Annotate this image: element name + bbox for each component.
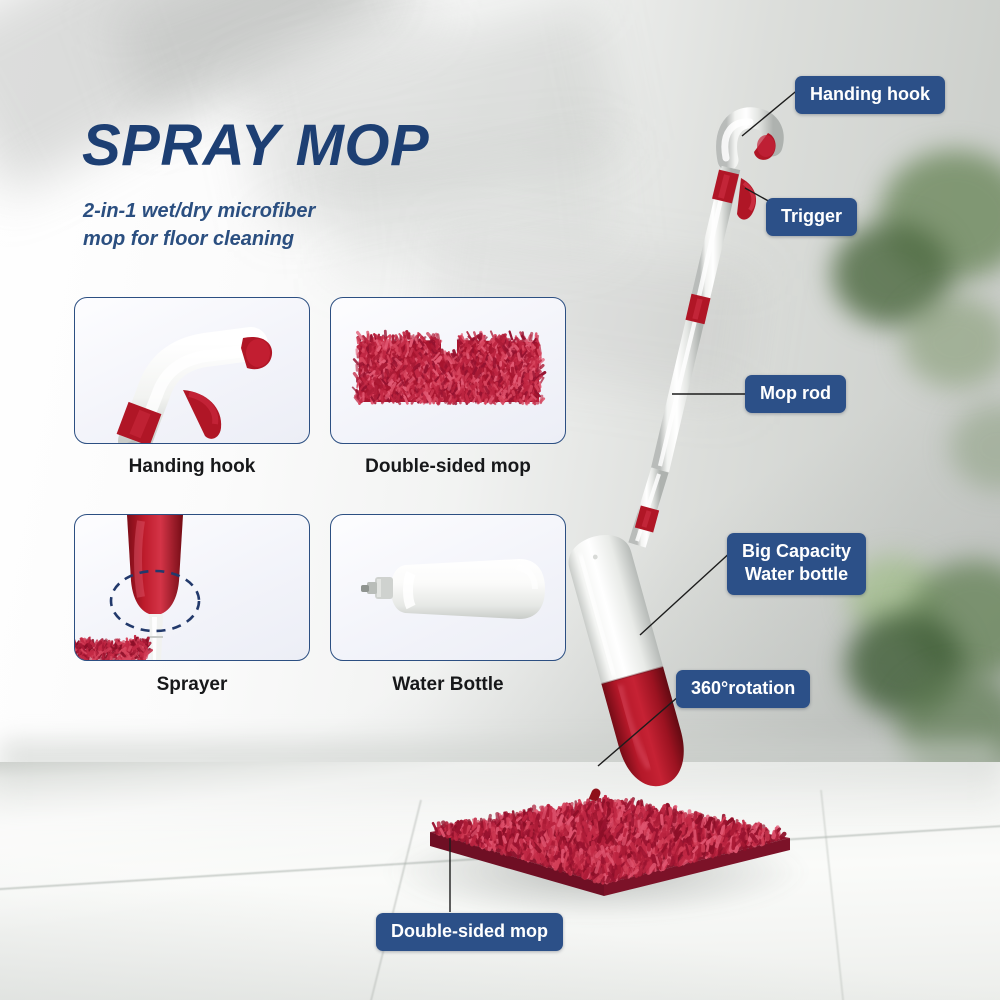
mop-handle-hook-photo — [75, 298, 310, 444]
page-title: SPRAY MOP — [82, 112, 429, 179]
feature-card-caption: Handing hook — [74, 456, 310, 478]
callout-handing-hook[interactable]: Handing hook — [795, 76, 945, 114]
callout-trigger[interactable]: Trigger — [766, 198, 857, 236]
callout-mop-rod[interactable]: Mop rod — [745, 375, 846, 413]
floor-reflection — [0, 762, 1000, 1000]
feature-card-caption: Double-sided mop — [330, 456, 566, 478]
feature-card-handing-hook[interactable] — [74, 297, 310, 444]
infographic-canvas: SPRAY MOP 2-in-1 wet/dry microfiber mop … — [0, 0, 1000, 1000]
page-subtitle: 2-in-1 wet/dry microfiber mop for floor … — [83, 197, 315, 254]
feature-card-water-bottle[interactable] — [330, 514, 566, 661]
foliage-icon — [902, 296, 1000, 388]
callout-rotation[interactable]: 360°rotation — [676, 670, 810, 708]
callout-double-sided-mop[interactable]: Double-sided mop — [376, 913, 563, 951]
feature-card-caption: Sprayer — [74, 674, 310, 696]
chenille-mop-pad-photo — [331, 298, 566, 444]
feature-card-sprayer[interactable] — [74, 514, 310, 661]
callout-water-bottle[interactable]: Big Capacity Water bottle — [727, 533, 866, 595]
feature-card-double-sided-mop[interactable] — [330, 297, 566, 444]
sprayer-nozzle-photo — [75, 515, 310, 661]
feature-card-caption: Water Bottle — [330, 674, 566, 696]
water-bottle-photo — [331, 515, 566, 661]
